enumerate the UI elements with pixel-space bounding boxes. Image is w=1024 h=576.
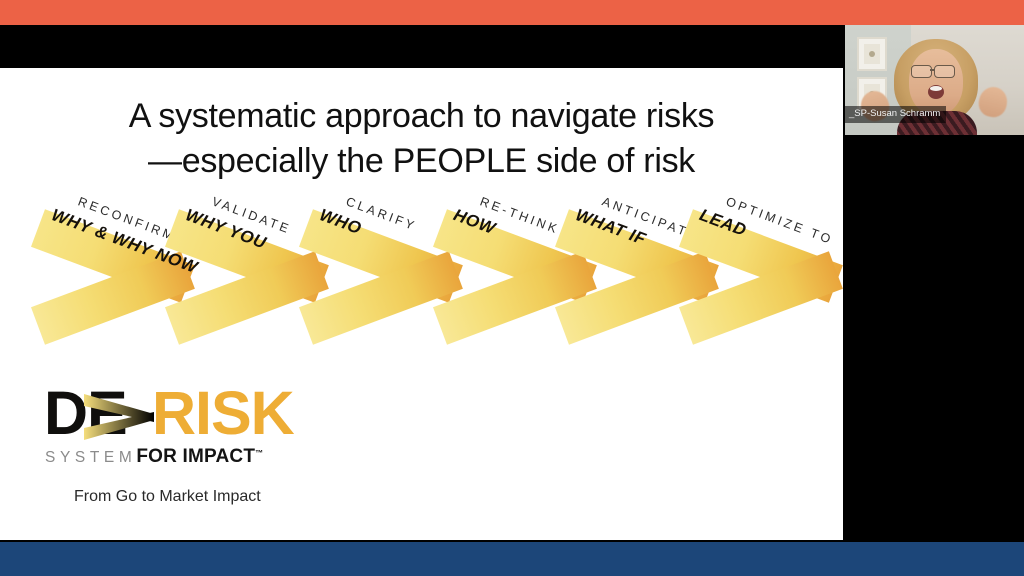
logo-wordmark: DE RISK bbox=[44, 386, 294, 448]
participant-video-tile[interactable]: _SP-Susan Schramm bbox=[845, 25, 1024, 135]
picture-frame-icon bbox=[857, 37, 887, 71]
eyeglasses-bridge bbox=[930, 69, 935, 71]
logo-system-text: SYSTEM bbox=[45, 449, 136, 466]
screen-share-stage: A systematic approach to navigate risks … bbox=[0, 0, 1024, 576]
trademark-symbol: ™ bbox=[255, 449, 263, 458]
slide-title-line-1: A systematic approach to navigate risks bbox=[129, 97, 714, 135]
participant-name-label: _SP-Susan Schramm bbox=[845, 106, 946, 123]
bottom-accent-bar bbox=[0, 542, 1024, 576]
eyeglasses-icon bbox=[911, 65, 932, 78]
logo-risk-text: RISK bbox=[152, 382, 294, 444]
derisk-logo: DE RISK SYSTEMFOR IMP bbox=[44, 386, 344, 506]
logo-for-impact-text: FOR IMPACT bbox=[136, 446, 255, 467]
eyeglasses-icon bbox=[934, 65, 955, 78]
slide-title-line-2: —especially the PEOPLE side of risk bbox=[0, 139, 843, 184]
slide-title: A systematic approach to navigate risks … bbox=[0, 94, 843, 184]
speaker-mouth bbox=[928, 85, 944, 99]
process-step-6: OPTIMIZE TO LEAD bbox=[686, 198, 843, 433]
shared-slide[interactable]: A systematic approach to navigate risks … bbox=[0, 68, 843, 540]
logo-tagline: From Go to Market Impact bbox=[74, 488, 261, 506]
top-accent-bar bbox=[0, 0, 1024, 25]
logo-subline: SYSTEMFOR IMPACT™ bbox=[45, 446, 315, 468]
participant-strip-background bbox=[845, 135, 1024, 542]
